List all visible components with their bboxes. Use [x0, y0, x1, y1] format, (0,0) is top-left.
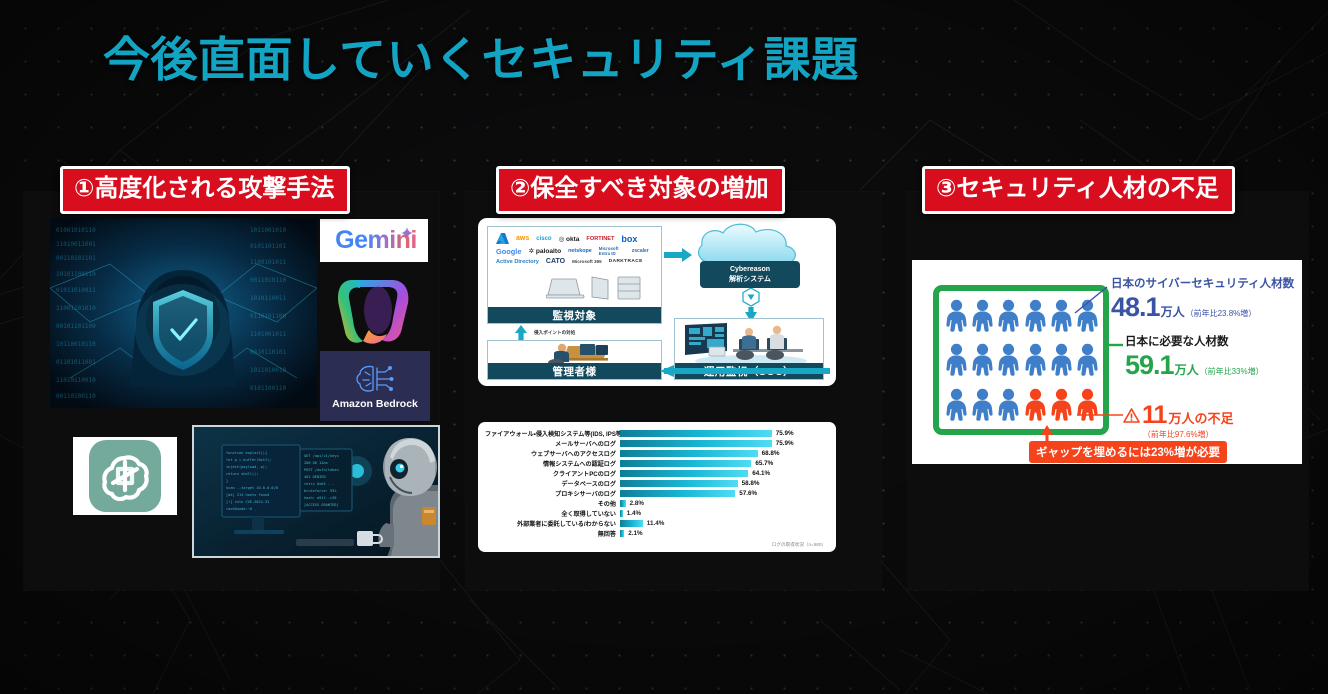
chart-bar-label: ウェブサーバへのアクセスログ: [485, 449, 620, 458]
microsoft-copilot-logo: [330, 270, 420, 350]
existing-headcount-note: （前年比23.8%増）: [1186, 308, 1257, 319]
chart-footnote: ログの取得状況（n=580）: [772, 542, 826, 548]
chart-bar-row: ウェブサーバへのアクセスログ68.8%: [485, 449, 828, 458]
gap-action-pill: ギャップを埋めるには23%増が必要: [1029, 441, 1227, 463]
svg-text:01101011001: 01101011001: [56, 359, 96, 366]
svg-text:bruteforce: 93%: bruteforce: 93%: [304, 489, 337, 493]
chart-bar-value: 58.8%: [738, 480, 760, 487]
amazon-bedrock-logo: Amazon Bedrock: [320, 351, 430, 421]
svg-text:}: }: [226, 479, 228, 483]
svg-text:200 OK 12ms: 200 OK 12ms: [304, 461, 328, 465]
chart-bar-label: クライアントPCのログ: [485, 469, 620, 478]
chart-bar-value: 64.1%: [748, 470, 770, 477]
robot-at-computer-image: function exploit(){ let p = buffer(0x1f)…: [192, 425, 440, 558]
chart-bar-row: 無回答2.1%: [485, 529, 828, 538]
openai-tile: [89, 440, 161, 512]
svg-text:00110100110: 00110100110: [56, 393, 96, 400]
svg-text:1010110011: 1010110011: [250, 295, 287, 302]
annotation-shortage: 11 万人の不足 （前年比97.6%増）: [1123, 401, 1233, 440]
chart-bar-label: その他: [485, 499, 620, 508]
svg-text:GET /api/v1/keys: GET /api/v1/keys: [304, 454, 339, 458]
panel-2-badge: ②保全すべき対象の増加: [496, 166, 785, 214]
panel-talent-shortage: ③セキュリティ人材の不足 日本のサイバーセキュリティ人材数 48.1 万人 （前…: [908, 166, 1308, 590]
shortage-note: （前年比97.6%増）: [1123, 429, 1233, 440]
svg-text:[ok] 214 hosts found: [ok] 214 hosts found: [226, 493, 269, 497]
chart-bar-label: 外部業者に委託している/わからない: [485, 519, 620, 528]
svg-text:inject(payload, p);: inject(payload, p);: [226, 465, 267, 469]
svg-text:scan --target 10.0.0.0/8: scan --target 10.0.0.0/8: [226, 486, 278, 490]
chart-bar-value: 75.9%: [772, 440, 794, 447]
annotation-required-headcount: 日本に必要な人材数 59.1 万人 （前年比33%増）: [1125, 333, 1264, 381]
svg-text:01011010011: 01011010011: [56, 287, 96, 294]
shortage-value: 11: [1142, 401, 1166, 430]
existing-headcount-value: 48.1: [1111, 292, 1160, 323]
chart-bar-label: プロキシサーバのログ: [485, 489, 620, 498]
svg-text:11010011001: 11010011001: [56, 241, 96, 248]
svg-text:let p = buffer(0x1f);: let p = buffer(0x1f);: [226, 458, 271, 462]
panel-attack-methods: ①高度化される攻撃手法 0100101011011010011001 00110…: [24, 166, 439, 590]
panel-3-badge: ③セキュリティ人材の不足: [922, 166, 1235, 214]
svg-text:01001010110: 01001010110: [56, 227, 96, 234]
svg-text:retry 0x04 ...: retry 0x04 ...: [304, 482, 334, 486]
log-collection-bar-chart: ファイアウォール・侵入検知システム等(IDS, IPS等)のログ75.9%メール…: [478, 422, 836, 552]
chart-rows: ファイアウォール・侵入検知システム等(IDS, IPS等)のログ75.9%メール…: [485, 429, 828, 538]
required-headcount-note: （前年比33%増）: [1200, 366, 1264, 377]
chart-bar: [620, 450, 758, 457]
page-title: 今後直面していくセキュリティ課題: [103, 34, 859, 87]
annotation-existing-headcount: 日本のサイバーセキュリティ人材数 48.1 万人 （前年比23.8%増）: [1111, 275, 1294, 323]
gemini-logo: Gemini: [320, 219, 428, 262]
chart-bar-value: 1.4%: [623, 510, 641, 517]
existing-headcount-title: 日本のサイバーセキュリティ人材数: [1111, 275, 1294, 291]
svg-text:hash: a91f..c30: hash: a91f..c30: [304, 496, 336, 500]
chart-bar: [620, 460, 751, 467]
svg-text:0101100110: 0101100110: [250, 385, 287, 392]
svg-text:10110010110: 10110010110: [56, 341, 96, 348]
svg-text:00110101101: 00110101101: [56, 255, 96, 262]
svg-text:0101101101: 0101101101: [250, 243, 287, 250]
chart-bar-label: 全く取得していない: [485, 509, 620, 518]
chart-bar-row: クライアントPCのログ64.1%: [485, 469, 828, 478]
chart-bar-label: ファイアウォール・侵入検知システム等(IDS, IPS等)のログ: [485, 429, 620, 438]
chart-bar-label: 無回答: [485, 529, 620, 538]
chart-bar: [620, 440, 772, 447]
chart-bar-row: 情報システムへの認証ログ65.7%: [485, 459, 828, 468]
chart-bar-value: 68.8%: [758, 450, 780, 457]
chart-bar-value: 65.7%: [751, 460, 773, 467]
chart-bar-row: その他2.8%: [485, 499, 828, 508]
shortage-unit: 万人の不足: [1168, 408, 1233, 427]
svg-text:0011010110: 0011010110: [250, 277, 287, 284]
svg-text:root@node:~# _: root@node:~# _: [226, 507, 257, 511]
required-headcount-unit: 万人: [1175, 361, 1199, 378]
chart-bar: [620, 520, 643, 527]
chart-bar-row: ファイアウォール・侵入検知システム等(IDS, IPS等)のログ75.9%: [485, 429, 828, 438]
openai-logo: [73, 437, 177, 515]
chart-bar-value: 11.4%: [643, 520, 665, 527]
existing-headcount-unit: 万人: [1161, 303, 1185, 320]
hooded-hacker-image: 0100101011011010011001 00110101101101011…: [50, 218, 317, 408]
chart-bar: [620, 490, 735, 497]
talent-shortage-infographic: 日本のサイバーセキュリティ人材数 48.1 万人 （前年比23.8%増） 日本に…: [912, 260, 1302, 464]
warning-triangle-icon: [1123, 408, 1140, 423]
chart-bar-row: 外部業者に委託している/わからない11.4%: [485, 519, 828, 528]
svg-text:11001101010: 11001101010: [56, 305, 96, 312]
chart-bar-value: 57.6%: [735, 490, 757, 497]
svg-text:0010110101: 0010110101: [250, 349, 287, 356]
diagram-flow-arrows: [478, 218, 836, 386]
svg-text:function exploit(){: function exploit(){: [226, 451, 267, 455]
chart-bar-value: 2.8%: [626, 500, 644, 507]
openai-knot-icon: [100, 451, 150, 501]
chart-bar: [620, 470, 748, 477]
chart-bar-row: メールサーバへのログ75.9%: [485, 439, 828, 448]
monitoring-architecture-diagram: aws cisco ◎ okta FORTINET box Google ✲ p…: [478, 218, 836, 386]
svg-text:POST /auth/token: POST /auth/token: [304, 468, 339, 472]
svg-text:[ACCESS GRANTED]: [ACCESS GRANTED]: [304, 503, 339, 507]
chart-bar-row: データベースのログ58.8%: [485, 479, 828, 488]
svg-text:00101101100: 00101101100: [56, 323, 96, 330]
svg-text:401 DENIED: 401 DENIED: [304, 475, 326, 479]
chart-bar-label: メールサーバへのログ: [485, 439, 620, 448]
required-headcount-value: 59.1: [1125, 350, 1174, 381]
chart-bar-label: データベースのログ: [485, 479, 620, 488]
chart-bar: [620, 430, 772, 437]
chart-bar-row: プロキシサーバのログ57.6%: [485, 489, 828, 498]
svg-text:1101001011: 1101001011: [250, 331, 287, 338]
chart-bar: [620, 480, 738, 487]
infographic-inner: 日本のサイバーセキュリティ人材数 48.1 万人 （前年比23.8%増） 日本に…: [917, 265, 1297, 459]
chart-bar-row: 全く取得していない1.4%: [485, 509, 828, 518]
svg-text:return shell();: return shell();: [226, 472, 258, 476]
chart-bar-value: 75.9%: [772, 430, 794, 437]
svg-text:[!] vuln CVE-2024-31: [!] vuln CVE-2024-31: [226, 500, 269, 504]
gemini-spark-icon: [401, 227, 413, 239]
brain-circuit-icon: [353, 362, 397, 396]
chart-bar-value: 2.1%: [624, 530, 642, 537]
panel-1-badge: ①高度化される攻撃手法: [60, 166, 350, 214]
svg-text:11010110010: 11010110010: [56, 377, 96, 384]
bedrock-label: Amazon Bedrock: [332, 398, 418, 410]
required-headcount-title: 日本に必要な人材数: [1125, 333, 1264, 349]
svg-text:1011001010: 1011001010: [250, 227, 287, 234]
panel-monitoring-scope: ②保全すべき対象の増加 aws cisco ◎ okta FORTINET bo…: [466, 166, 881, 590]
chart-bar-label: 情報システムへの認証ログ: [485, 459, 620, 468]
